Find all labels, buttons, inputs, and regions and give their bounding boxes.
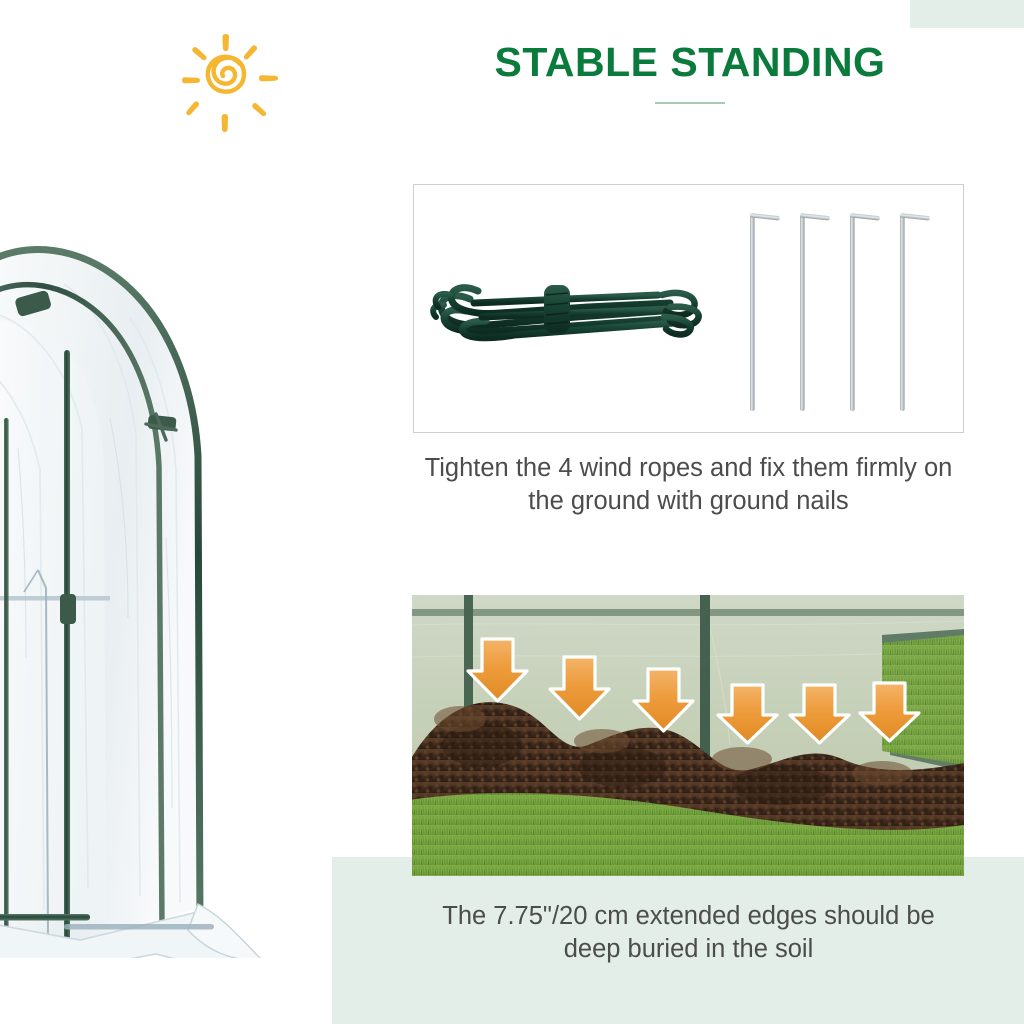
title-divider bbox=[655, 102, 725, 104]
page-title: STABLE STANDING bbox=[400, 34, 980, 90]
caption-soil-burial: The 7.75"/20 cm extended edges should be… bbox=[413, 900, 964, 966]
soil-burial-photo bbox=[412, 595, 964, 876]
ground-nails-image bbox=[744, 199, 949, 419]
greenhouse-product-image bbox=[0, 118, 350, 958]
caption-wind-ropes: Tighten the 4 wind ropes and fix them fi… bbox=[413, 452, 964, 518]
infographic-page: STABLE STANDING bbox=[0, 0, 1024, 1024]
mint-block-top-right bbox=[910, 0, 1024, 28]
accessories-panel bbox=[413, 184, 964, 433]
wind-rope-bundle-image bbox=[426, 255, 726, 365]
page-title-area: STABLE STANDING bbox=[400, 34, 980, 114]
